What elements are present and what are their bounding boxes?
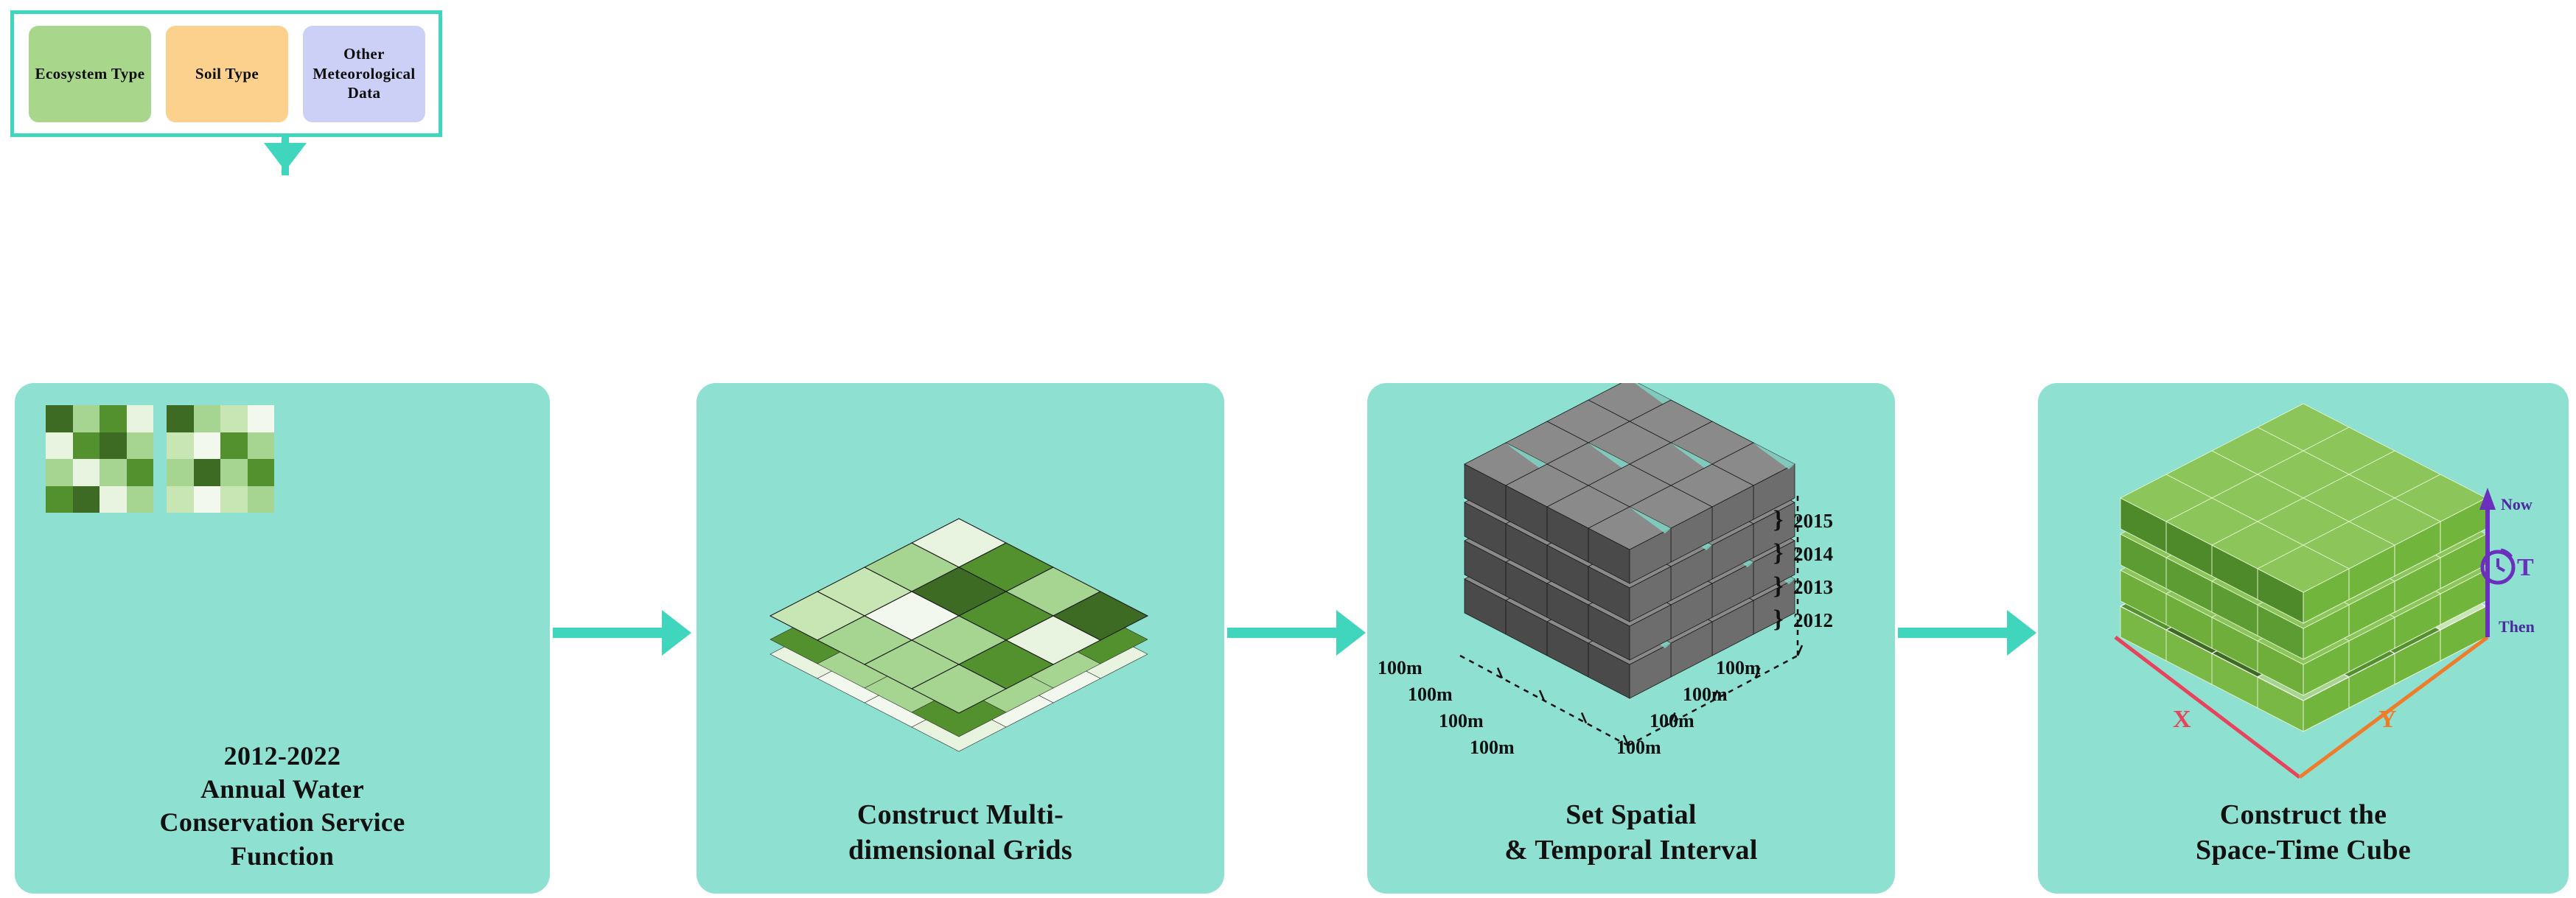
connector-arrow-2-line <box>1227 628 1339 638</box>
raster-cell <box>167 405 194 432</box>
panel-caption: Construct Multi-dimensional Grids <box>697 798 1224 869</box>
distance-label-left-3: 100m <box>1439 710 1484 732</box>
time-label-now: Now <box>2501 495 2533 514</box>
measure-tick <box>1540 690 1544 701</box>
input-card-label: Ecosystem Type <box>35 64 145 84</box>
year-label-2015: 2015 <box>1793 510 1833 533</box>
raster-cell <box>220 486 248 513</box>
distance-label-right-2: 100m <box>1683 684 1728 706</box>
input-card-other-meteorological-data[interactable]: OtherMeteorologicalData <box>303 26 425 122</box>
raster-cell <box>127 459 154 486</box>
raster-cell <box>194 432 221 460</box>
raster-cell <box>100 405 127 432</box>
connector-arrow-3-head-icon <box>2007 610 2036 656</box>
raster-cell <box>73 486 100 513</box>
input-card-list: Ecosystem Type Soil Type OtherMeteorolog… <box>14 14 439 133</box>
raster-cell <box>73 405 100 432</box>
distance-label-left-1: 100m <box>1378 657 1423 679</box>
raster-cell <box>248 432 275 460</box>
raster-cell <box>127 405 154 432</box>
raster-grid-pair <box>46 405 274 513</box>
raster-cell <box>167 459 194 486</box>
year-label-2014: 2014 <box>1793 543 1833 566</box>
raster-cell <box>220 459 248 486</box>
connector-arrow-1-line <box>553 628 665 638</box>
year-brace-icon: } <box>1773 572 1783 600</box>
raster-cell <box>194 459 221 486</box>
panel-caption: 2012-2022Annual WaterConservation Servic… <box>15 740 550 873</box>
raster-grid-right <box>167 405 274 513</box>
raster-cell <box>46 459 73 486</box>
raster-grid-left <box>46 405 153 513</box>
raster-cell <box>100 432 127 460</box>
input-data-container: Ecosystem Type Soil Type OtherMeteorolog… <box>10 10 442 137</box>
raster-cell <box>248 486 275 513</box>
diagram-root: Ecosystem Type Soil Type OtherMeteorolog… <box>0 0 2576 898</box>
raster-cell <box>167 432 194 460</box>
raster-cell <box>167 486 194 513</box>
distance-label-left-4: 100m <box>1470 737 1515 759</box>
connector-arrow-1-head-icon <box>662 610 691 656</box>
connector-arrow-2-head-icon <box>1336 610 1366 656</box>
step-panel-multidimensional-grids[interactable]: Construct Multi-dimensional Grids <box>697 383 1224 894</box>
panel-caption: Set Spatial& Temporal Interval <box>1367 798 1895 869</box>
distance-label-right-3: 100m <box>1650 710 1694 732</box>
axis-label-y: Y <box>2378 706 2397 734</box>
raster-cell <box>73 459 100 486</box>
input-card-label: OtherMeteorologicalData <box>313 44 415 104</box>
step-panel-annual-water-conservation[interactable]: 2012-2022Annual WaterConservation Servic… <box>15 383 550 894</box>
step-panel-spatial-temporal-interval[interactable]: } 2015 } 2014 } 2013 } 2012 100m 100m 10… <box>1367 383 1895 894</box>
year-brace-icon: } <box>1773 606 1783 634</box>
step-panel-space-time-cube[interactable]: X Y T Now Then Construct theSpace-Time C… <box>2038 383 2569 894</box>
input-card-label: Soil Type <box>195 64 259 84</box>
space-time-cube-illustration <box>2045 383 2561 796</box>
raster-cell <box>248 459 275 486</box>
input-card-soil-type[interactable]: Soil Type <box>166 26 288 122</box>
year-brace-icon: } <box>1773 539 1783 567</box>
panel-caption: Construct theSpace-Time Cube <box>2038 798 2569 869</box>
raster-cell <box>194 405 221 432</box>
distance-label-right-1: 100m <box>1716 657 1761 679</box>
distance-label-right-4: 100m <box>1616 737 1661 759</box>
raster-cell <box>100 486 127 513</box>
distance-label-left-2: 100m <box>1408 684 1453 706</box>
year-label-2012: 2012 <box>1793 609 1833 632</box>
raster-cell <box>46 432 73 460</box>
grey-voxel-cube-illustration <box>1372 383 1888 766</box>
raster-cell <box>127 486 154 513</box>
raster-cell <box>220 432 248 460</box>
time-label-then: Then <box>2499 617 2535 636</box>
year-brace-icon: } <box>1773 506 1783 534</box>
raster-cell <box>46 405 73 432</box>
raster-cell <box>194 486 221 513</box>
raster-cell <box>46 486 73 513</box>
raster-cell <box>127 432 154 460</box>
connector-arrow-down-head-icon <box>264 143 307 171</box>
connector-arrow-3-line <box>1898 628 2010 638</box>
stacked-layers-illustration <box>702 386 1218 754</box>
axis-label-x: X <box>2173 706 2191 734</box>
raster-cell <box>220 405 248 432</box>
raster-cell <box>100 459 127 486</box>
year-label-2013: 2013 <box>1793 576 1833 599</box>
input-card-ecosystem-type[interactable]: Ecosystem Type <box>29 26 151 122</box>
raster-cell <box>248 405 275 432</box>
axis-label-t: T <box>2517 554 2534 582</box>
raster-cell <box>73 432 100 460</box>
